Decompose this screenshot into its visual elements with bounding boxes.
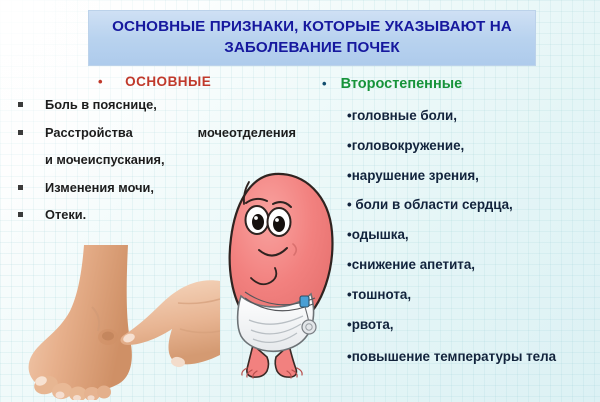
- list-item-label: Расстройства мочеотделения: [45, 124, 296, 143]
- bullet-icon: •: [98, 75, 103, 88]
- foot-with-edema: [29, 245, 132, 400]
- square-bullet-icon: [18, 185, 23, 190]
- list-item: •головные боли,: [347, 108, 597, 124]
- slide-canvas: ОСНОВНЫЕ ПРИЗНАКИ, КОТОРЫЕ УКАЗЫВАЮТ НА …: [0, 0, 600, 402]
- secondary-signs-list: •головные боли, •головокружение, •наруше…: [347, 108, 597, 381]
- list-item: Расстройства мочеотделения: [14, 124, 296, 143]
- list-item: •рвота,: [347, 317, 597, 333]
- list-item: •снижение апетита,: [347, 257, 597, 273]
- edema-foot-illustration: [8, 245, 220, 400]
- list-item-label: и мочеиспускания,: [45, 151, 296, 170]
- square-bullet-icon: [18, 212, 23, 217]
- secondary-signs-heading-label: Второстепенные: [341, 76, 463, 92]
- list-item-continuation: и мочеиспускания,: [14, 151, 296, 170]
- list-item: •нарушение зрения,: [347, 168, 597, 184]
- secondary-signs-heading: • Второстепенные: [322, 76, 462, 92]
- list-item: Боль в пояснице,: [14, 96, 296, 115]
- pressing-hand: [121, 280, 220, 368]
- primary-signs-heading: • ОСНОВНЫЕ: [98, 74, 211, 89]
- primary-signs-heading-label: ОСНОВНЫЕ: [125, 74, 211, 89]
- list-item: •головокружение,: [347, 138, 597, 154]
- bullet-icon: •: [322, 77, 327, 90]
- list-item: • боли в области сердца,: [347, 197, 597, 213]
- list-item: •тошнота,: [347, 287, 597, 303]
- kidney-mascot-illustration: [205, 170, 350, 392]
- list-item-label: Боль в пояснице,: [45, 96, 296, 115]
- square-bullet-icon: [18, 130, 23, 135]
- list-item-label-part-a: Расстройства: [45, 124, 133, 143]
- square-bullet-icon: [18, 102, 23, 107]
- list-item: •одышка,: [347, 227, 597, 243]
- spacer-bullet-icon: [18, 157, 23, 162]
- list-item-label-part-b: мочеотделения: [198, 124, 296, 143]
- title-banner: ОСНОВНЫЕ ПРИЗНАКИ, КОТОРЫЕ УКАЗЫВАЮТ НА …: [88, 10, 536, 66]
- page-title: ОСНОВНЫЕ ПРИЗНАКИ, КОТОРЫЕ УКАЗЫВАЮТ НА …: [89, 17, 535, 58]
- list-item: •повышение температуры тела: [347, 347, 591, 368]
